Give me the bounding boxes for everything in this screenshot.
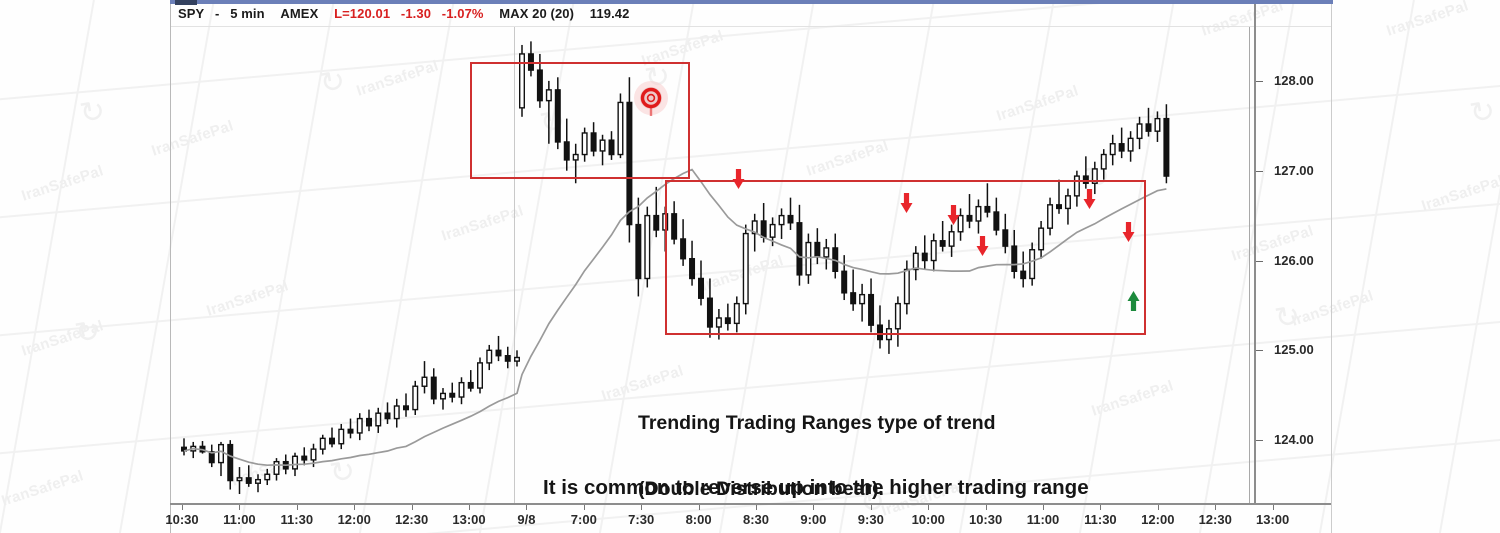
candle-body[interactable] bbox=[636, 225, 641, 279]
price-axis-label: 126.00 bbox=[1274, 253, 1314, 268]
candle-body[interactable] bbox=[357, 419, 362, 433]
watermark-logo-icon: ↻ bbox=[1272, 298, 1303, 337]
time-axis-tick bbox=[1158, 505, 1159, 510]
price-axis-line bbox=[1254, 4, 1256, 503]
candle-body[interactable] bbox=[487, 350, 492, 363]
annotation-reversal-tip: It is common to reverse up into the high… bbox=[543, 423, 1089, 533]
time-axis-tick bbox=[412, 505, 413, 510]
time-axis-label: 11:30 bbox=[281, 512, 314, 527]
candle-body[interactable] bbox=[330, 438, 335, 443]
watermark-logo-icon: ↻ bbox=[77, 93, 108, 132]
down-arrow-icon-1[interactable] bbox=[731, 168, 746, 195]
time-axis-tick bbox=[182, 505, 183, 510]
time-axis-tick bbox=[526, 505, 527, 510]
header-indicator[interactable]: MAX 20 (20) bbox=[499, 6, 574, 21]
time-axis-label: 13:00 bbox=[452, 512, 485, 527]
time-axis-tick bbox=[354, 505, 355, 510]
panel-right-border bbox=[1331, 0, 1332, 533]
time-axis-label: 11:00 bbox=[223, 512, 256, 527]
candle-body[interactable] bbox=[654, 216, 659, 230]
candle-body[interactable] bbox=[1155, 119, 1160, 132]
annotation-line-3: It is common to reverse up into the high… bbox=[543, 475, 1089, 501]
candle-body[interactable] bbox=[1101, 155, 1106, 169]
down-arrow-icon-2[interactable] bbox=[899, 192, 914, 219]
candle-body[interactable] bbox=[1164, 119, 1169, 176]
candle-body[interactable] bbox=[515, 358, 520, 362]
watermark-logo-icon: ↻ bbox=[72, 313, 103, 352]
candle-body[interactable] bbox=[348, 429, 353, 433]
time-axis-tick bbox=[1100, 505, 1101, 510]
candle-body[interactable] bbox=[496, 350, 501, 355]
candle-body[interactable] bbox=[468, 383, 473, 388]
candle-body[interactable] bbox=[1110, 144, 1115, 155]
time-axis-tick bbox=[297, 505, 298, 510]
time-axis-label: 13:00 bbox=[1256, 512, 1289, 527]
candle-body[interactable] bbox=[293, 456, 298, 469]
candle-body[interactable] bbox=[413, 386, 418, 409]
candle-body[interactable] bbox=[385, 413, 390, 418]
price-axis-label: 125.00 bbox=[1274, 342, 1314, 357]
time-axis-tick bbox=[239, 505, 240, 510]
down-arrow-icon-6[interactable] bbox=[1121, 221, 1136, 248]
header-last-price: L=120.01 bbox=[334, 6, 390, 21]
candle-body[interactable] bbox=[394, 406, 399, 419]
time-axis-label: 12:30 bbox=[1199, 512, 1232, 527]
candle-body[interactable] bbox=[265, 474, 270, 479]
candle-body[interactable] bbox=[450, 393, 455, 397]
time-axis-label: 12:30 bbox=[395, 512, 428, 527]
price-axis-tick bbox=[1256, 261, 1263, 262]
candle-body[interactable] bbox=[320, 438, 325, 449]
header-change-pct: -1.07% bbox=[442, 6, 484, 21]
candle-body[interactable] bbox=[256, 480, 261, 484]
header-change: -1.30 bbox=[401, 6, 431, 21]
down-arrow-icon-3[interactable] bbox=[946, 204, 961, 231]
watermark-text: IranSafePal bbox=[1384, 0, 1470, 40]
watermark-text: IranSafePal bbox=[1419, 172, 1500, 214]
window-menu-handle[interactable] bbox=[175, 0, 197, 5]
watermark-text: IranSafePal bbox=[19, 317, 105, 359]
time-axis-label: 10:30 bbox=[165, 512, 198, 527]
chart-header: SPY - 5 min AMEX L=120.01 -1.30 -1.07% M… bbox=[178, 6, 629, 22]
time-axis-label: 11:30 bbox=[1084, 512, 1117, 527]
candle-body[interactable] bbox=[441, 393, 446, 398]
header-indicator-value: 119.42 bbox=[590, 6, 630, 21]
down-arrow-icon-5[interactable] bbox=[1082, 188, 1097, 215]
price-axis-tick bbox=[1256, 171, 1263, 172]
red-circle-marker[interactable] bbox=[632, 80, 670, 125]
candle-body[interactable] bbox=[431, 377, 436, 399]
candle-body[interactable] bbox=[1146, 124, 1151, 131]
candle-body[interactable] bbox=[219, 445, 224, 463]
candle-body[interactable] bbox=[422, 377, 427, 386]
watermark-text: IranSafePal bbox=[1289, 287, 1375, 329]
price-axis-tick bbox=[1256, 81, 1263, 82]
price-axis-tick bbox=[1256, 440, 1263, 441]
candle-body[interactable] bbox=[404, 406, 409, 410]
header-separator: - bbox=[215, 6, 219, 21]
time-axis-label: 12:00 bbox=[1141, 512, 1174, 527]
price-axis-label: 128.00 bbox=[1274, 73, 1314, 88]
candle-body[interactable] bbox=[302, 456, 307, 460]
candle-body[interactable] bbox=[367, 419, 372, 426]
price-axis-tick bbox=[1256, 350, 1263, 351]
down-arrow-icon-4[interactable] bbox=[975, 235, 990, 262]
up-arrow-icon-1[interactable] bbox=[1126, 290, 1141, 317]
time-axis-tick bbox=[469, 505, 470, 510]
header-interval[interactable]: 5 min bbox=[230, 6, 264, 21]
watermark-grid-line bbox=[0, 0, 108, 533]
candle-body[interactable] bbox=[505, 356, 510, 361]
candle-body[interactable] bbox=[228, 445, 233, 481]
watermark-grid-line bbox=[1294, 0, 1428, 533]
candle-body[interactable] bbox=[1119, 144, 1124, 151]
watermark-grid-line bbox=[1414, 0, 1500, 533]
candle-body[interactable] bbox=[645, 216, 650, 279]
candle-body[interactable] bbox=[339, 429, 344, 443]
watermark-logo-icon: ↻ bbox=[1467, 93, 1498, 132]
candle-body[interactable] bbox=[459, 383, 464, 397]
price-axis-label: 124.00 bbox=[1274, 432, 1314, 447]
candle-body[interactable] bbox=[376, 413, 381, 426]
candle-body[interactable] bbox=[274, 462, 279, 475]
candle-body[interactable] bbox=[246, 478, 251, 483]
candle-body[interactable] bbox=[478, 363, 483, 388]
time-axis-tick bbox=[1273, 505, 1274, 510]
time-axis-label: 12:00 bbox=[338, 512, 371, 527]
header-exchange: AMEX bbox=[280, 6, 318, 21]
time-axis-label: 9/8 bbox=[517, 512, 535, 527]
time-axis-tick bbox=[1215, 505, 1216, 510]
candle-body[interactable] bbox=[311, 449, 316, 460]
candle-body[interactable] bbox=[1128, 138, 1133, 151]
candle-body[interactable] bbox=[237, 478, 242, 481]
chart-window: IranSafePalIranSafePalIranSafePalIranSaf… bbox=[0, 0, 1500, 533]
watermark-text: IranSafePal bbox=[0, 467, 86, 509]
watermark-text: IranSafePal bbox=[19, 162, 105, 204]
window-title-bar[interactable] bbox=[170, 0, 1333, 4]
candle-body[interactable] bbox=[1137, 124, 1142, 138]
price-axis-label: 127.00 bbox=[1274, 163, 1314, 178]
header-symbol[interactable]: SPY bbox=[178, 6, 204, 21]
